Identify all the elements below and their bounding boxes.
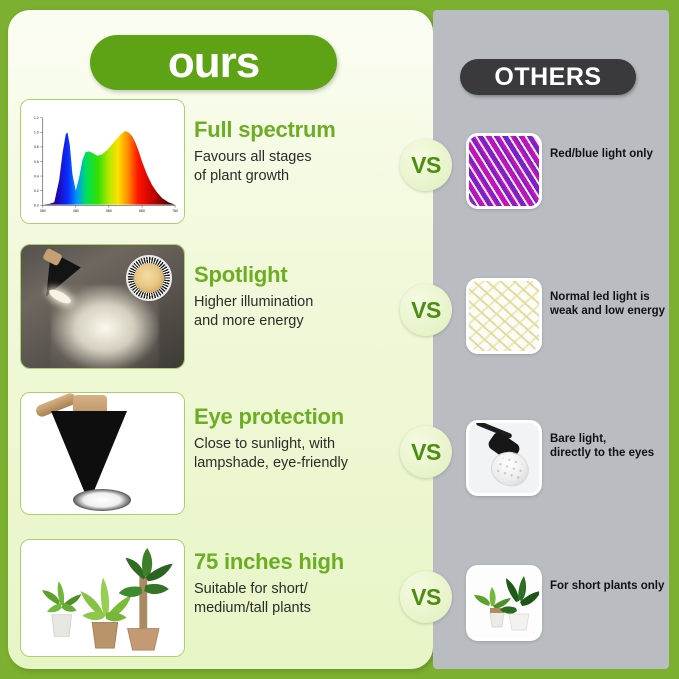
three-plants-photo — [20, 539, 185, 657]
feature-text-block: Full spectrum Favours all stages of plan… — [194, 117, 394, 186]
vs-label: VS — [411, 152, 441, 179]
svg-text:1.0: 1.0 — [34, 131, 39, 135]
feature-title: 75 inches high — [194, 549, 394, 575]
feature-desc-line1: Suitable for short/ — [194, 580, 394, 599]
other-caption: Bare light, directly to the eyes — [550, 432, 676, 460]
svg-text:1.2: 1.2 — [34, 116, 39, 120]
vs-label: VS — [411, 439, 441, 466]
light-bulb — [487, 447, 534, 491]
svg-text:0.2: 0.2 — [34, 189, 39, 193]
others-badge-label: OTHERS — [494, 63, 601, 92]
spectrum-chart-photo: 0.0 0.2 0.4 0.6 0.8 1.0 1.2 — [20, 99, 185, 224]
feature-desc-line2: lampshade, eye-friendly — [194, 454, 394, 473]
comparison-row: Spotlight Higher illumination and more e… — [0, 240, 679, 385]
cob-led-chip — [126, 255, 172, 301]
svg-text:780: 780 — [172, 209, 178, 213]
other-caption-line1: Red/blue light only — [550, 147, 676, 161]
vs-label: VS — [411, 584, 441, 611]
other-caption-line1: For short plants only — [550, 579, 676, 593]
other-caption: Normal led light is weak and low energy — [550, 290, 676, 318]
ours-badge: ours — [90, 35, 337, 90]
svg-text:0.6: 0.6 — [34, 160, 39, 164]
lampshade-scene — [21, 393, 184, 514]
comparison-row: Eye protection Close to sunlight, with l… — [0, 382, 679, 527]
bulb-led-dots — [493, 453, 527, 484]
svg-text:0.0: 0.0 — [34, 204, 39, 208]
other-caption: For short plants only — [550, 579, 676, 593]
svg-text:0.4: 0.4 — [34, 174, 39, 178]
lampshade-closeup-photo — [20, 392, 185, 515]
svg-text:480: 480 — [73, 209, 79, 213]
vs-badge: VS — [400, 571, 452, 623]
plants-illustration — [21, 540, 184, 656]
feature-desc-line2: medium/tall plants — [194, 599, 394, 618]
feature-text-block: Eye protection Close to sunlight, with l… — [194, 404, 394, 473]
comparison-row: 75 inches high Suitable for short/ mediu… — [0, 527, 679, 672]
feature-text-block: 75 inches high Suitable for short/ mediu… — [194, 549, 394, 618]
vs-badge: VS — [400, 284, 452, 336]
other-caption-line2: weak and low energy — [550, 304, 676, 318]
spotlight-lamp-photo — [20, 244, 185, 369]
feature-text-block: Spotlight Higher illumination and more e… — [194, 262, 394, 331]
cob-led-lens — [134, 263, 164, 293]
vs-label: VS — [411, 297, 441, 324]
other-caption-line2: directly to the eyes — [550, 446, 676, 460]
bare-bulb-scene — [469, 423, 539, 493]
feature-desc-line1: Higher illumination — [194, 293, 394, 312]
vs-badge: VS — [400, 426, 452, 478]
spectrum-chart-svg: 0.0 0.2 0.4 0.6 0.8 1.0 1.2 — [21, 100, 184, 223]
vs-badge: VS — [400, 139, 452, 191]
spotlight-scene — [21, 245, 184, 368]
lamp-diffuser — [73, 489, 131, 511]
svg-text:380: 380 — [40, 209, 46, 213]
feature-desc-line1: Favours all stages — [194, 148, 394, 167]
two-plants-illustration — [469, 568, 539, 638]
white-led-texture — [469, 281, 539, 351]
other-caption: Red/blue light only — [550, 147, 676, 161]
svg-text:580: 580 — [106, 209, 112, 213]
feature-title: Spotlight — [194, 262, 394, 288]
others-badge: OTHERS — [460, 59, 636, 95]
plant-small — [42, 581, 81, 636]
infographic-frame: ours OTHERS — [0, 0, 679, 679]
other-caption-line1: Normal led light is — [550, 290, 676, 304]
feature-title: Eye protection — [194, 404, 394, 430]
other-caption-line1: Bare light, — [550, 432, 676, 446]
plants-scene — [21, 540, 184, 656]
two-short-plants-thumb — [466, 565, 542, 641]
svg-text:0.8: 0.8 — [34, 145, 39, 149]
feature-title: Full spectrum — [194, 117, 394, 143]
ours-badge-label: ours — [168, 41, 259, 85]
svg-text:680: 680 — [139, 209, 145, 213]
purple-led-panel-thumb — [466, 133, 542, 209]
feature-desc-line2: of plant growth — [194, 167, 394, 186]
two-plants-scene — [469, 568, 539, 638]
comparison-row: 0.0 0.2 0.4 0.6 0.8 1.0 1.2 — [0, 95, 679, 240]
purple-led-texture — [469, 136, 539, 206]
plant-medium — [80, 577, 131, 648]
bare-bulb-thumb — [466, 420, 542, 496]
spectrum-chart: 0.0 0.2 0.4 0.6 0.8 1.0 1.2 — [21, 100, 184, 223]
feature-desc-line1: Close to sunlight, with — [194, 435, 394, 454]
feature-desc-line2: and more energy — [194, 312, 394, 331]
white-led-board-thumb — [466, 278, 542, 354]
